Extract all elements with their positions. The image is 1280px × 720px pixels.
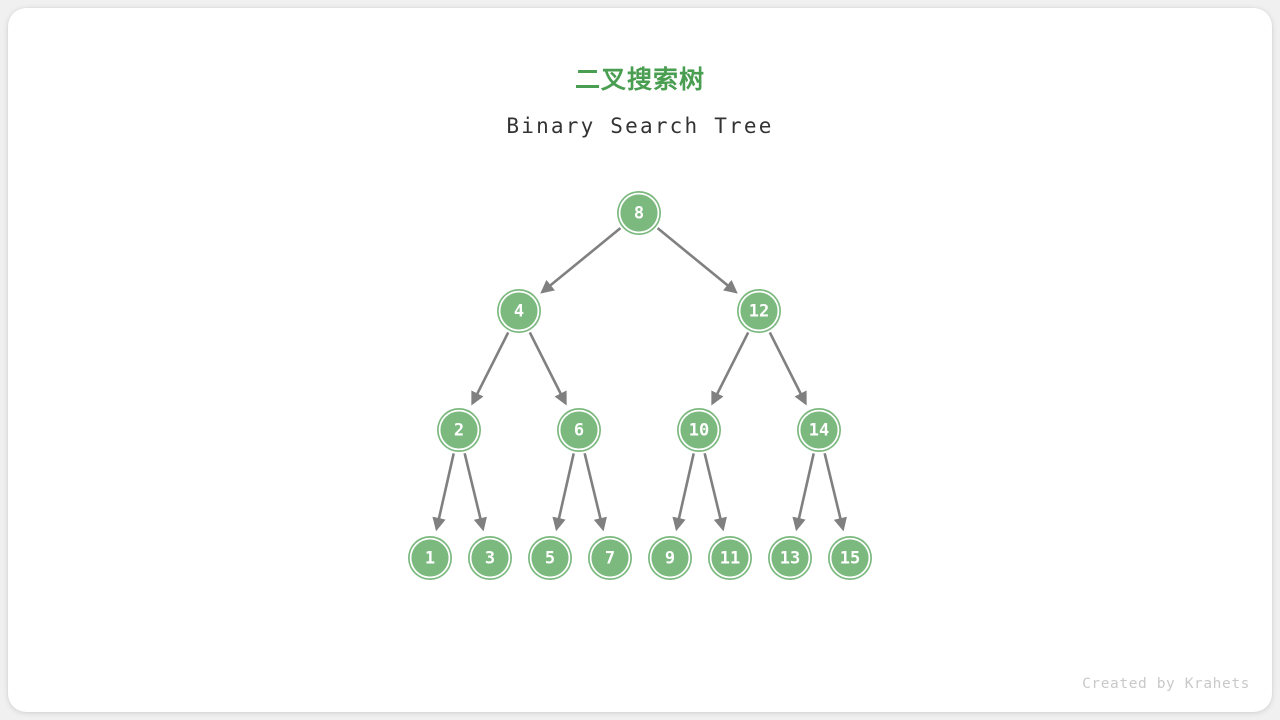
node-value-label: 11 xyxy=(720,549,740,569)
tree-edge xyxy=(770,332,806,403)
tree-node[interactable]: 4 xyxy=(497,289,541,333)
node-value-label: 12 xyxy=(749,302,769,322)
node-value-label: 13 xyxy=(780,549,800,569)
tree-node[interactable]: 7 xyxy=(588,536,632,580)
binary-search-tree-diagram: 841226101413579111315 xyxy=(8,8,1272,712)
tree-edge xyxy=(465,453,483,529)
tree-node[interactable]: 13 xyxy=(768,536,812,580)
tree-node[interactable]: 14 xyxy=(797,408,841,452)
tree-nodes: 841226101413579111315 xyxy=(408,191,872,580)
node-value-label: 8 xyxy=(634,204,644,224)
node-value-label: 9 xyxy=(665,549,675,569)
tree-edge xyxy=(825,453,843,529)
tree-node[interactable]: 10 xyxy=(677,408,721,452)
tree-node[interactable]: 6 xyxy=(557,408,601,452)
tree-node[interactable]: 5 xyxy=(528,536,572,580)
tree-edge xyxy=(585,453,603,529)
tree-node[interactable]: 15 xyxy=(828,536,872,580)
node-value-label: 2 xyxy=(454,421,464,441)
node-value-label: 1 xyxy=(425,549,435,569)
tree-edge xyxy=(473,332,509,403)
tree-node[interactable]: 12 xyxy=(737,289,781,333)
tree-node[interactable]: 8 xyxy=(617,191,661,235)
tree-edge xyxy=(530,332,566,403)
page-background: 二叉搜索树 Binary Search Tree 841226101413579… xyxy=(0,0,1280,720)
node-value-label: 4 xyxy=(514,302,524,322)
tree-node[interactable]: 11 xyxy=(708,536,752,580)
tree-edge xyxy=(705,453,723,529)
tree-edge xyxy=(658,228,736,292)
tree-edge xyxy=(713,332,749,403)
node-value-label: 3 xyxy=(485,549,495,569)
tree-edge xyxy=(677,453,694,528)
tree-edge xyxy=(437,453,454,528)
tree-edge xyxy=(797,453,814,528)
credit-text: Created by Krahets xyxy=(1082,676,1250,692)
diagram-card: 二叉搜索树 Binary Search Tree 841226101413579… xyxy=(8,8,1272,712)
tree-edge xyxy=(542,228,620,292)
node-value-label: 6 xyxy=(574,421,584,441)
tree-node[interactable]: 2 xyxy=(437,408,481,452)
tree-edge xyxy=(557,453,574,528)
tree-node[interactable]: 1 xyxy=(408,536,452,580)
tree-edges xyxy=(437,228,843,529)
node-value-label: 7 xyxy=(605,549,615,569)
tree-node[interactable]: 9 xyxy=(648,536,692,580)
node-value-label: 14 xyxy=(809,421,829,441)
tree-node[interactable]: 3 xyxy=(468,536,512,580)
node-value-label: 15 xyxy=(840,549,860,569)
node-value-label: 5 xyxy=(545,549,555,569)
node-value-label: 10 xyxy=(689,421,709,441)
